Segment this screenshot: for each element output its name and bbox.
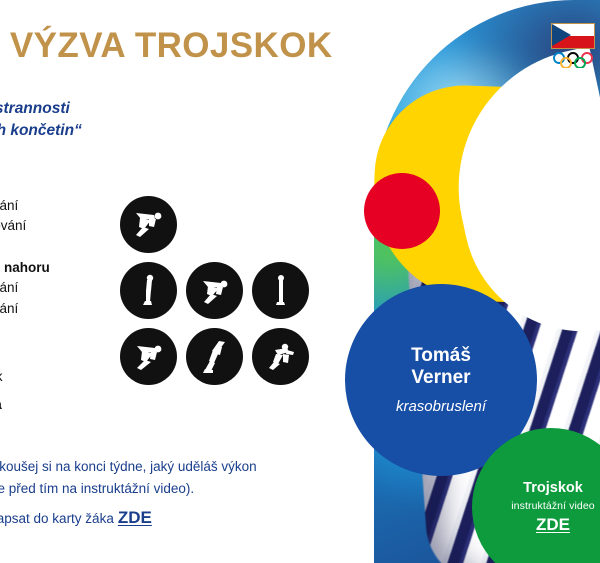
exercise-icon-standing-upright bbox=[252, 262, 309, 319]
footer-record-row: meň zapsat do karty žákaZDE bbox=[0, 508, 152, 528]
standing-upright-glyph bbox=[261, 271, 301, 311]
exercise-line: opakování bbox=[0, 216, 26, 236]
athlete-name-line-2: Verner bbox=[411, 367, 470, 389]
footer-zde-link[interactable]: ZDE bbox=[118, 508, 152, 527]
exercise-heading: měrem nahoru bbox=[0, 258, 50, 278]
leap-glyph bbox=[195, 337, 235, 377]
subtitle: aku všestrannosti y dolních končetin“ bbox=[0, 98, 82, 143]
page-title: NÍ VÝZVA TROJSKOK bbox=[0, 26, 333, 66]
video-link[interactable]: ZDE bbox=[536, 515, 570, 535]
exercise-block-1: opakování opakování bbox=[0, 196, 26, 237]
exercise-icon-standing-bend bbox=[120, 262, 177, 319]
standing-bend-glyph bbox=[129, 271, 169, 311]
exercise-line: opakování bbox=[0, 278, 50, 298]
czech-flag-icon bbox=[551, 23, 595, 49]
subtitle-line-1: aku všestrannosti bbox=[0, 98, 82, 120]
exercise-block-4: z místa bbox=[0, 395, 2, 415]
crouch-glyph bbox=[195, 271, 235, 311]
athlete-name-line-1: Tomáš bbox=[411, 345, 471, 367]
exercise-icon-leap bbox=[186, 328, 243, 385]
video-caption: instruktážní video bbox=[511, 500, 595, 512]
czech-olympic-committee-logo bbox=[551, 23, 595, 69]
exercise-block-3: sta en en skok bbox=[0, 326, 3, 387]
poster-canvas: NÍ VÝZVA TROJSKOK aku všestrannosti y do… bbox=[0, 0, 600, 563]
red-decor-circle bbox=[364, 173, 440, 249]
exercise-line: en skok bbox=[0, 367, 3, 387]
video-title: Trojskok bbox=[523, 480, 583, 496]
crouch-start-glyph bbox=[129, 337, 169, 377]
exercise-line: opakování bbox=[0, 299, 50, 319]
exercise-icon-long-jump bbox=[252, 328, 309, 385]
flag-blue-wedge bbox=[552, 24, 571, 46]
subtitle-line-2: y dolních končetin“ bbox=[0, 120, 82, 142]
squat-jump-glyph bbox=[129, 205, 169, 245]
athlete-sport: krasobruslení bbox=[396, 398, 486, 415]
exercise-heading: z místa bbox=[0, 395, 2, 415]
exercise-line: opakování bbox=[0, 196, 26, 216]
exercise-line: en bbox=[0, 346, 3, 366]
footer-line-3: meň zapsat do karty žáka bbox=[0, 511, 114, 526]
exercise-icon-crouch bbox=[186, 262, 243, 319]
olympic-rings-icon bbox=[552, 52, 594, 68]
exercise-block-2: měrem nahoru opakování opakování bbox=[0, 258, 50, 319]
long-jump-glyph bbox=[261, 337, 301, 377]
footer-line-1: ? Vyzkoušej si na konci týdne, jaký uděl… bbox=[0, 456, 257, 478]
exercise-icon-crouch-start bbox=[120, 328, 177, 385]
footer-paragraph: ? Vyzkoušej si na konci týdne, jaký uděl… bbox=[0, 456, 257, 500]
exercise-icon-squat-jump bbox=[120, 196, 177, 253]
footer-line-2: ívej se před tím na instruktážní video). bbox=[0, 478, 257, 500]
exercise-heading: sta bbox=[0, 326, 3, 346]
